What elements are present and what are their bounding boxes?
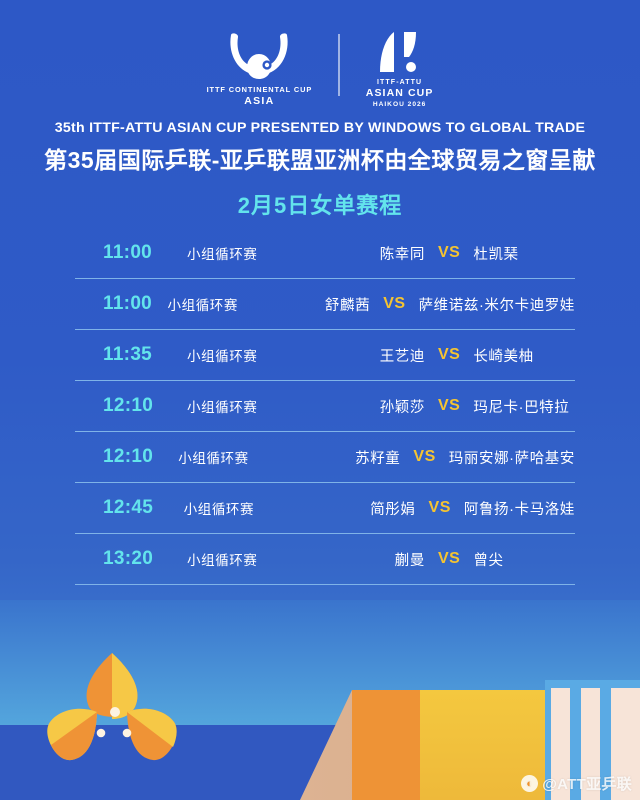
weibo-watermark: ◐ @ATT亚乒联 <box>521 773 632 794</box>
vs-label: VS <box>416 499 464 517</box>
vs-label: VS <box>400 448 448 466</box>
match-time: 13:20 <box>75 548 187 570</box>
player-a: 孙颖莎 <box>339 396 425 417</box>
match-stage: 小组循环赛 <box>178 447 314 467</box>
asian-cup-logo: ITTF-ATTU ASIAN CUP HAIKOU 2026 <box>366 30 434 108</box>
match-row: 12:10小组循环赛苏籽童VS玛丽安娜·萨哈基安 <box>75 432 575 483</box>
continental-cup-caption-line1: ITTF CONTINENTAL CUP <box>207 85 313 94</box>
player-b: 长崎美柚 <box>473 345 533 366</box>
match-row: 12:45小组循环赛简彤娟VS阿鲁扬·卡马洛娃 <box>75 483 575 534</box>
match-time: 11:00 <box>75 293 168 315</box>
weibo-handle: @ATT亚乒联 <box>542 773 632 794</box>
logo-row: ITTF CONTINENTAL CUP ASIA ITTF-ATTU ASIA… <box>0 28 640 110</box>
player-b: 阿鲁扬·卡马洛娃 <box>464 498 575 519</box>
match-time: 12:10 <box>75 395 187 417</box>
vs-label: VS <box>425 550 473 568</box>
match-row: 13:20小组循环赛蒯曼VS曾尖 <box>75 534 575 585</box>
vs-label: VS <box>425 397 473 415</box>
player-b: 玛丽安娜·萨哈基安 <box>449 447 575 468</box>
match-row: 11:00小组循环赛舒麟茜VS萨维诺兹·米尔卡迪罗娃 <box>75 279 575 330</box>
vs-label: VS <box>370 295 418 313</box>
vs-label: VS <box>425 346 473 364</box>
match-time: 11:00 <box>75 242 187 264</box>
ittf-attu-asian-cup-haikou-icon <box>376 30 424 74</box>
asian-cup-caption-line2: ASIAN CUP <box>366 87 434 99</box>
title-chinese: 第35届国际乒联-亚乒联盟亚洲杯由全球贸易之窗呈献 <box>0 141 640 175</box>
match-row: 11:00小组循环赛陈幸同VS杜凯琹 <box>75 228 575 279</box>
player-a: 陈幸同 <box>339 243 425 264</box>
asian-cup-caption-line3: HAIKOU 2026 <box>373 101 427 108</box>
match-players: 苏籽童VS玛丽安娜·萨哈基安 <box>314 447 575 468</box>
player-a: 王艺迪 <box>339 345 425 366</box>
asian-cup-caption-line1: ITTF-ATTU <box>377 79 422 86</box>
logo-divider <box>338 34 340 96</box>
match-time: 12:10 <box>75 446 178 468</box>
match-stage: 小组循环赛 <box>184 498 330 518</box>
match-players: 陈幸同VS杜凯琹 <box>339 243 575 264</box>
match-row: 12:10小组循环赛孙颖莎VS玛尼卡·巴特拉 <box>75 381 575 432</box>
player-a: 舒麟茜 <box>284 294 370 315</box>
match-row: 11:35小组循环赛王艺迪VS长崎美柚 <box>75 330 575 381</box>
schedule-subtitle: 2月5日女单赛程 <box>0 188 640 220</box>
player-b: 萨维诺兹·米尔卡迪罗娃 <box>419 294 575 315</box>
match-time: 11:35 <box>75 344 187 366</box>
match-players: 王艺迪VS长崎美柚 <box>339 345 575 366</box>
player-b: 玛尼卡·巴特拉 <box>473 396 569 417</box>
continental-cup-logo: ITTF CONTINENTAL CUP ASIA <box>207 32 313 107</box>
player-a: 苏籽童 <box>314 447 400 468</box>
haikou-seaside-flower-illustration <box>0 600 640 800</box>
match-stage: 小组循环赛 <box>168 294 285 314</box>
match-players: 孙颖莎VS玛尼卡·巴特拉 <box>339 396 575 417</box>
match-players: 蒯曼VS曾尖 <box>339 549 575 570</box>
match-time: 12:45 <box>75 497 184 519</box>
vs-label: VS <box>425 244 473 262</box>
player-b: 曾尖 <box>473 549 503 570</box>
weibo-icon: ◐ <box>521 775 538 792</box>
continental-cup-caption-line2: ASIA <box>244 95 274 107</box>
poster-root: ITTF CONTINENTAL CUP ASIA ITTF-ATTU ASIA… <box>0 0 640 800</box>
player-a: 简彤娟 <box>330 498 416 519</box>
schedule-list: 11:00小组循环赛陈幸同VS杜凯琹11:00小组循环赛舒麟茜VS萨维诺兹·米尔… <box>75 228 575 585</box>
match-stage: 小组循环赛 <box>187 345 339 365</box>
title-english: 35th ITTF-ATTU ASIAN CUP PRESENTED BY WI… <box>0 120 640 136</box>
match-stage: 小组循环赛 <box>187 243 339 263</box>
match-players: 简彤娟VS阿鲁扬·卡马洛娃 <box>330 498 575 519</box>
ittf-continental-cup-asia-icon <box>223 32 295 82</box>
player-a: 蒯曼 <box>339 549 425 570</box>
match-players: 舒麟茜VS萨维诺兹·米尔卡迪罗娃 <box>284 294 575 315</box>
match-stage: 小组循环赛 <box>187 396 339 416</box>
match-stage: 小组循环赛 <box>187 549 339 569</box>
player-b: 杜凯琹 <box>473 243 518 264</box>
